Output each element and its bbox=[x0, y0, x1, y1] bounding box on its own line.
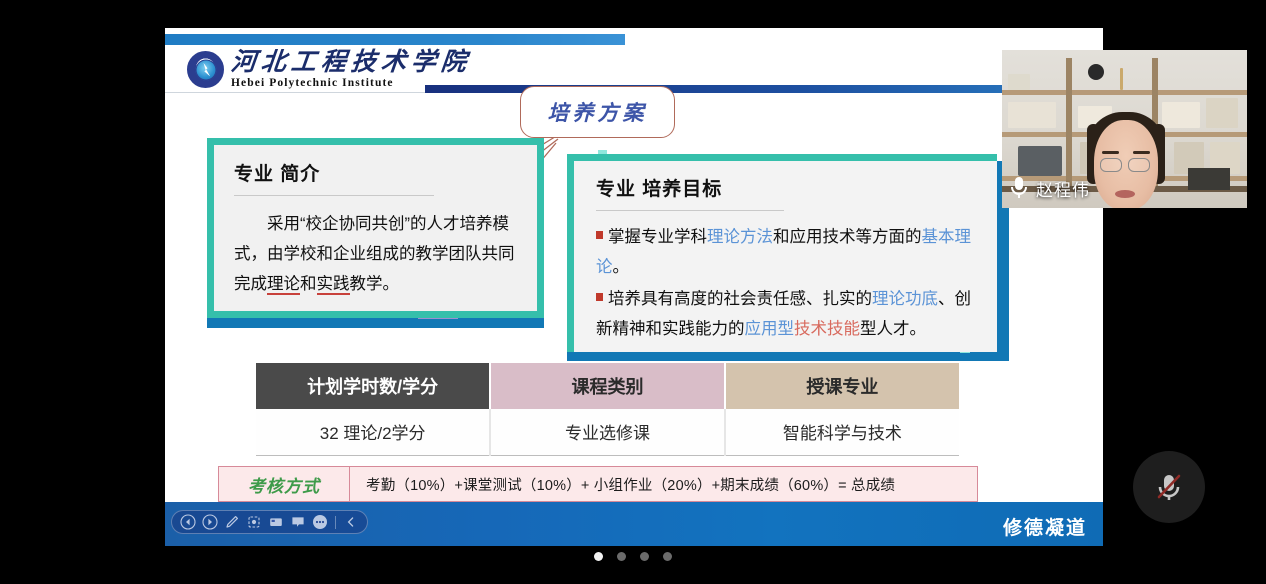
participant-name: 赵程伟 bbox=[1036, 176, 1090, 201]
bullet-marker-icon bbox=[596, 293, 603, 301]
emphasis-blue-1-1: 理论功底 bbox=[872, 290, 938, 308]
page-dot[interactable] bbox=[640, 552, 649, 561]
table-header-cell: 课程类别 bbox=[490, 363, 724, 409]
university-seal-icon bbox=[187, 51, 224, 88]
participant-name-chip: 赵程伟 bbox=[1008, 174, 1090, 202]
training-objectives-title: 专业 培养目标 bbox=[596, 174, 983, 201]
previous-slide-icon[interactable] bbox=[178, 512, 198, 532]
assessment-method-row: 考核方式 考勤（10%）+课堂测试（10%）+ 小组作业（20%）+期末成绩（6… bbox=[218, 466, 978, 502]
objective-bullet: 掌握专业学科理论方法和应用技术等方面的基本理论。 bbox=[596, 222, 983, 282]
training-objectives-rule bbox=[596, 210, 784, 211]
mute-toggle-button[interactable] bbox=[1133, 451, 1205, 523]
table-header-cell: 授课专业 bbox=[725, 363, 959, 409]
assessment-formula: 考勤（10%）+课堂测试（10%）+ 小组作业（20%）+期末成绩（60%）= … bbox=[350, 467, 977, 501]
text-run-2: 和 bbox=[300, 275, 317, 293]
major-introduction-rule bbox=[234, 195, 434, 196]
page-dot[interactable] bbox=[594, 552, 603, 561]
table-row: 32 理论/2学分专业选修课智能科学与技术 bbox=[256, 409, 959, 455]
more-options-icon[interactable] bbox=[310, 512, 330, 532]
text-run-0-4: 。 bbox=[613, 258, 630, 276]
major-introduction-box: 专业 简介 采用“校企协同共创”的人才培养模式，由学校和企业组成的教学团队共同完… bbox=[207, 138, 544, 318]
collapse-toolbar-icon[interactable] bbox=[341, 512, 361, 532]
course-info-table: 计划学时数/学分课程类别授课专业 32 理论/2学分专业选修课智能科学与技术 bbox=[256, 363, 959, 456]
presentation-slide: 河北工程技术学院 Hebei Polytechnic Institute 培养方… bbox=[165, 28, 1103, 546]
slide-title-callout: 培养方案 bbox=[520, 86, 675, 138]
emphasis-red-1-4: 技术技能 bbox=[794, 320, 860, 338]
page-indicator-dots[interactable] bbox=[0, 552, 1266, 561]
text-run-1-0: 培养具有高度的社会责任感、扎实的 bbox=[608, 290, 872, 308]
bullet-marker-icon bbox=[596, 231, 603, 239]
toolbar-divider bbox=[335, 516, 336, 529]
text-run-4: 教学。 bbox=[350, 275, 400, 293]
page-dot[interactable] bbox=[663, 552, 672, 561]
table-cell: 专业选修课 bbox=[490, 409, 724, 455]
page-dot[interactable] bbox=[617, 552, 626, 561]
video-person-glasses-right bbox=[1128, 158, 1150, 172]
text-run-1-5: 型人才。 bbox=[860, 320, 926, 338]
institution-name-en: Hebei Polytechnic Institute bbox=[231, 77, 471, 89]
header-accent-bar-primary bbox=[165, 34, 625, 45]
whiteboard-icon[interactable] bbox=[266, 512, 286, 532]
video-person-glasses-left bbox=[1100, 158, 1122, 172]
annotation-icon[interactable] bbox=[288, 512, 308, 532]
text-run-0-0: 掌握专业学科 bbox=[608, 228, 707, 246]
objective-bullet: 培养具有高度的社会责任感、扎实的理论功底、创新精神和实践能力的应用型技术技能型人… bbox=[596, 284, 983, 344]
presentation-toolbar[interactable] bbox=[171, 510, 368, 534]
table-cell: 智能科学与技术 bbox=[725, 409, 959, 455]
institution-name-cn: 河北工程技术学院 bbox=[230, 50, 473, 76]
pen-icon[interactable] bbox=[222, 512, 242, 532]
major-introduction-title: 专业 简介 bbox=[234, 159, 519, 186]
major-introduction-text: 采用“校企协同共创”的人才培养模式，由学校和企业组成的教学团队共同完成理论和实践… bbox=[234, 209, 519, 299]
emphasis-underline-3: 实践 bbox=[317, 275, 350, 295]
training-objectives-list: 掌握专业学科理论方法和应用技术等方面的基本理论。培养具有高度的社会责任感、扎实的… bbox=[596, 222, 983, 344]
emphasis-blue-0-1: 理论方法 bbox=[707, 228, 773, 246]
table-cell: 32 理论/2学分 bbox=[256, 409, 490, 455]
institution-logo: 河北工程技术学院 Hebei Polytechnic Institute bbox=[187, 50, 471, 89]
assessment-label: 考核方式 bbox=[219, 467, 350, 501]
microphone-muted-icon bbox=[1149, 467, 1189, 507]
laser-pointer-icon[interactable] bbox=[244, 512, 264, 532]
training-objectives-box: 专业 培养目标 掌握专业学科理论方法和应用技术等方面的基本理论。培养具有高度的社… bbox=[567, 154, 997, 352]
text-run-0-2: 和应用技术等方面的 bbox=[773, 228, 922, 246]
next-slide-icon[interactable] bbox=[200, 512, 220, 532]
emphasis-blue-1-3: 应用型 bbox=[745, 320, 795, 338]
table-header-cell: 计划学时数/学分 bbox=[256, 363, 490, 409]
screen: 河北工程技术学院 Hebei Polytechnic Institute 培养方… bbox=[0, 0, 1266, 584]
participant-video-tile[interactable]: 赵程伟 bbox=[1002, 50, 1247, 208]
microphone-icon bbox=[1008, 174, 1030, 202]
table-header-row: 计划学时数/学分课程类别授课专业 bbox=[256, 363, 959, 409]
emphasis-underline-1: 理论 bbox=[267, 275, 300, 295]
footer-motto: 修德凝道 bbox=[1003, 513, 1087, 540]
slide-title-text: 培养方案 bbox=[548, 97, 648, 127]
